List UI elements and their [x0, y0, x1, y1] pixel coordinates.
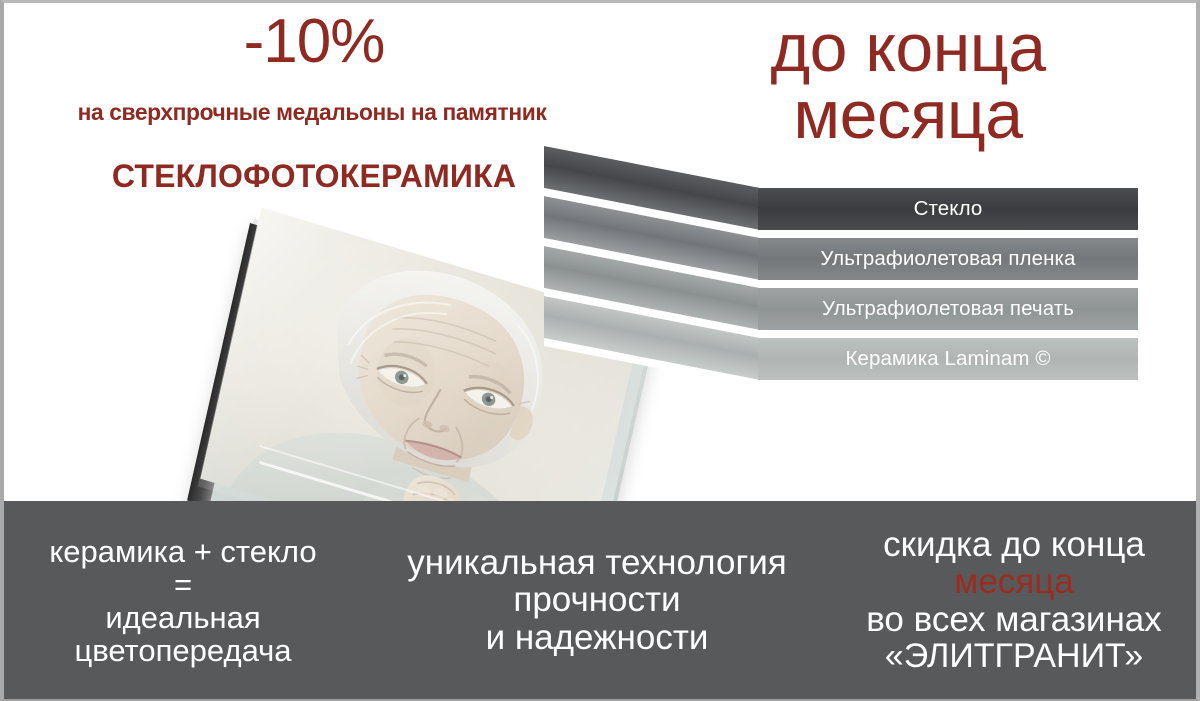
- upper-content-area: -10% на сверхпрочные медальоны на памятн…: [4, 3, 1196, 501]
- benefit-1-line-3: идеальная: [4, 602, 362, 635]
- benefit-2-line-1: уникальная технология: [362, 544, 832, 581]
- layer-uv-print: Ультрафиолетовая печать: [758, 288, 1138, 330]
- layer-label-uv-film: Ультрафиолетовая пленка: [820, 247, 1075, 271]
- layer-label-ceramic: Керамика Laminam ©: [845, 347, 1050, 371]
- offer-line-3: во всех магазинах: [832, 601, 1196, 638]
- benefits-bar: керамика + стекло = идеальная цветоперед…: [4, 501, 1196, 699]
- promo-subtitle: на сверхпрочные медальоны на памятник: [31, 101, 594, 125]
- layer-stack-diagram: Стекло Ультрафиолетовая пленка Ультрафио…: [640, 186, 1140, 398]
- benefit-column-colour: керамика + стекло = идеальная цветоперед…: [4, 532, 362, 667]
- layer-ceramic: Керамика Laminam ©: [758, 338, 1138, 380]
- benefit-1-line-4: цветопередача: [4, 635, 362, 668]
- benefit-column-technology: уникальная технология прочности и надежн…: [362, 544, 832, 655]
- offer-store-name: «ЭЛИТГРАНИТ»: [832, 638, 1196, 674]
- layer-uv-film: Ультрафиолетовая пленка: [758, 238, 1138, 280]
- layer-label-glass: Стекло: [914, 197, 983, 221]
- benefit-1-line-2: =: [4, 569, 362, 602]
- layer-glass: Стекло: [758, 188, 1138, 230]
- offer-highlight-month: месяца: [832, 563, 1196, 600]
- benefit-2-line-2: прочности: [362, 581, 832, 618]
- layer-label-uv-print: Ультрафиолетовая печать: [822, 297, 1074, 321]
- benefit-2-line-3: и надежности: [362, 619, 832, 656]
- headline-line-1: до конца: [658, 15, 1158, 82]
- benefit-1-line-1: керамика + стекло: [4, 536, 362, 569]
- headline-line-2: месяца: [658, 82, 1158, 149]
- discount-percentage: -10%: [24, 11, 604, 73]
- headline: до конца месяца: [658, 15, 1158, 148]
- offer-line-1: скидка до конца: [832, 526, 1196, 563]
- benefit-column-offer: скидка до конца месяца во всех магазинах…: [832, 526, 1196, 673]
- product-title: СТЕКЛОФОТОКЕРАМИКА: [24, 160, 604, 192]
- promo-banner: -10% на сверхпрочные медальоны на памятн…: [0, 0, 1200, 701]
